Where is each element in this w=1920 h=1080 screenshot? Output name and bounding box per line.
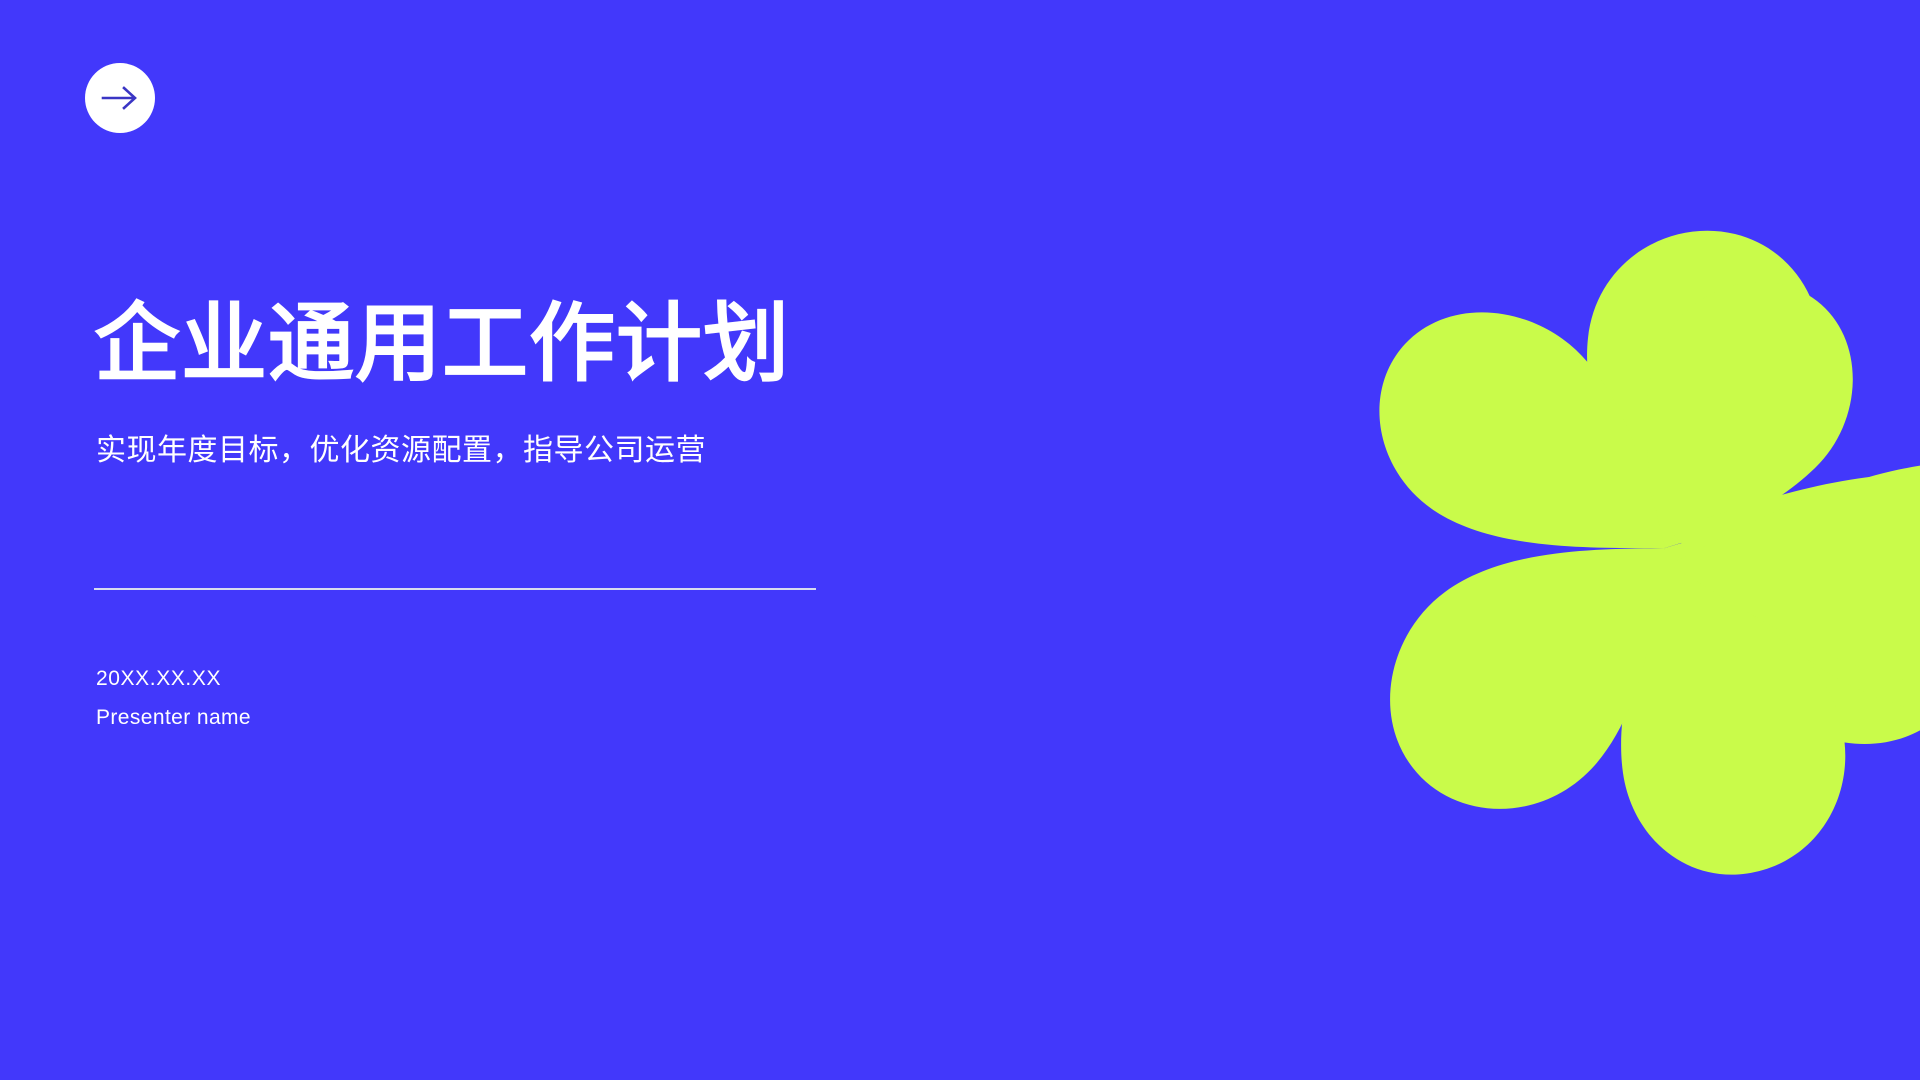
flower-petals bbox=[1379, 231, 1920, 875]
flower-petals-right-overflow bbox=[1670, 462, 1920, 714]
presentation-date: 20XX.XX.XX bbox=[96, 667, 221, 691]
page-subtitle: 实现年度目标，优化资源配置，指导公司运营 bbox=[96, 425, 706, 469]
title-slide: 企业通用工作计划 实现年度目标，优化资源配置，指导公司运营 20XX.XX.XX… bbox=[0, 0, 1920, 1080]
divider bbox=[94, 588, 816, 590]
flower-decoration bbox=[1255, 110, 1920, 990]
content-block: 企业通用工作计划 实现年度目标，优化资源配置，指导公司运营 20XX.XX.XX… bbox=[94, 0, 1014, 1080]
presenter-name: Presenter name bbox=[96, 706, 251, 730]
page-title: 企业通用工作计划 bbox=[94, 299, 790, 389]
